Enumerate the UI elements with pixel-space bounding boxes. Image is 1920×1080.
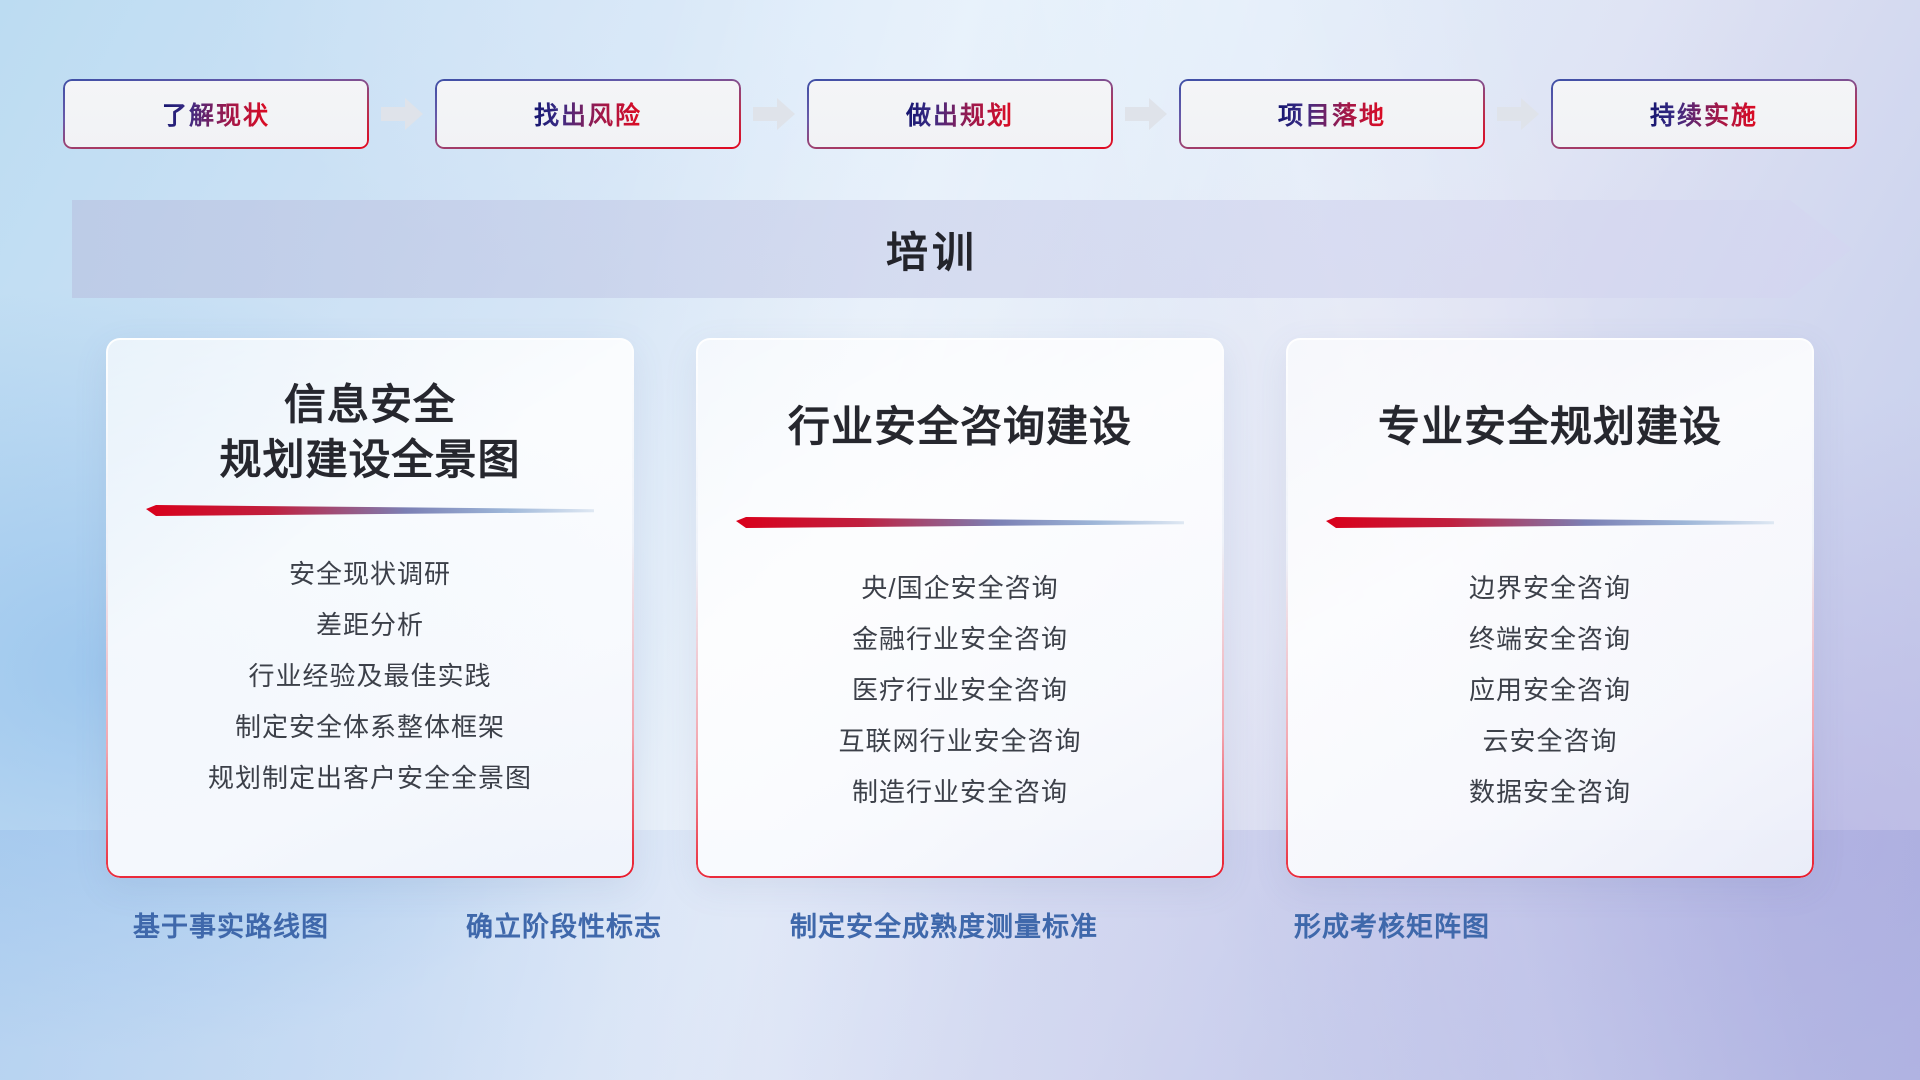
step-chip-1[interactable]: 找出风险 <box>435 79 741 149</box>
list-item: 终端安全咨询 <box>1469 620 1631 659</box>
list-item: 医疗行业安全咨询 <box>852 671 1068 710</box>
arrow-right-icon <box>741 79 807 149</box>
card-industry-consulting[interactable]: 行业安全咨询建设 央/国企安全咨询 金融行业安全咨询 医疗行业安全咨询 互联网行… <box>696 338 1224 878</box>
list-item: 差距分析 <box>316 606 424 645</box>
footer-label: 基于事实路线图 <box>133 905 329 944</box>
card-item-list: 央/国企安全咨询 金融行业安全咨询 医疗行业安全咨询 互联网行业安全咨询 制造行… <box>838 569 1081 812</box>
list-item: 金融行业安全咨询 <box>852 620 1068 659</box>
process-step-row: 了解现状 找出风险 做出规划 项目落地 持续实施 <box>0 78 1920 150</box>
arrow-right-icon <box>369 79 435 149</box>
step-chip-label: 找出风险 <box>534 96 642 132</box>
list-item: 应用安全咨询 <box>1469 671 1631 710</box>
card-professional-planning[interactable]: 专业安全规划建设 边界安全咨询 终端安全咨询 应用安全咨询 云安全咨询 数据安全… <box>1286 338 1814 878</box>
step-chip-label: 了解现状 <box>162 96 270 132</box>
step-chip-3[interactable]: 项目落地 <box>1179 79 1485 149</box>
step-chip-label: 持续实施 <box>1650 96 1758 132</box>
card-divider <box>106 505 634 521</box>
card-item-list: 安全现状调研 差距分析 行业经验及最佳实践 制定安全体系整体框架 规划制定出客户… <box>208 555 532 798</box>
footer-label: 形成考核矩阵图 <box>1294 905 1490 944</box>
list-item: 制造行业安全咨询 <box>852 773 1068 812</box>
step-chip-2[interactable]: 做出规划 <box>807 79 1113 149</box>
list-item: 制定安全体系整体框架 <box>235 708 505 747</box>
step-chip-label: 做出规划 <box>906 96 1014 132</box>
arrow-right-icon <box>1485 79 1551 149</box>
list-item: 央/国企安全咨询 <box>861 569 1058 608</box>
card-panorama[interactable]: 信息安全 规划建设全景图 安全现状调研 差距分析 行业经验及最佳实践 制定安全体… <box>106 338 634 878</box>
list-item: 数据安全咨询 <box>1469 773 1631 812</box>
footer-label: 确立阶段性标志 <box>466 905 662 944</box>
card-title: 行业安全咨询建设 <box>788 400 1132 455</box>
list-item: 规划制定出客户安全全景图 <box>208 759 532 798</box>
banner-title: 培训 <box>42 200 1822 298</box>
card-item-list: 边界安全咨询 终端安全咨询 应用安全咨询 云安全咨询 数据安全咨询 <box>1469 569 1631 812</box>
card-title: 信息安全 规划建设全景图 <box>219 378 520 487</box>
training-banner-band: 培训 <box>72 200 1852 298</box>
list-item: 互联网行业安全咨询 <box>838 722 1081 761</box>
card-divider <box>1286 517 1814 533</box>
list-item: 云安全咨询 <box>1482 722 1617 761</box>
card-title: 专业安全规划建设 <box>1378 400 1722 455</box>
footer-label: 制定安全成熟度测量标准 <box>790 905 1098 944</box>
step-chip-label: 项目落地 <box>1278 96 1386 132</box>
card-divider <box>696 517 1224 533</box>
list-item: 边界安全咨询 <box>1469 569 1631 608</box>
card-row: 信息安全 规划建设全景图 安全现状调研 差距分析 行业经验及最佳实践 制定安全体… <box>0 338 1920 878</box>
list-item: 安全现状调研 <box>289 555 451 594</box>
list-item: 行业经验及最佳实践 <box>248 657 491 696</box>
step-chip-0[interactable]: 了解现状 <box>63 79 369 149</box>
footer-label-row: 基于事实路线图 确立阶段性标志 制定安全成熟度测量标准 形成考核矩阵图 <box>0 905 1920 965</box>
step-chip-4[interactable]: 持续实施 <box>1551 79 1857 149</box>
arrow-right-icon <box>1113 79 1179 149</box>
